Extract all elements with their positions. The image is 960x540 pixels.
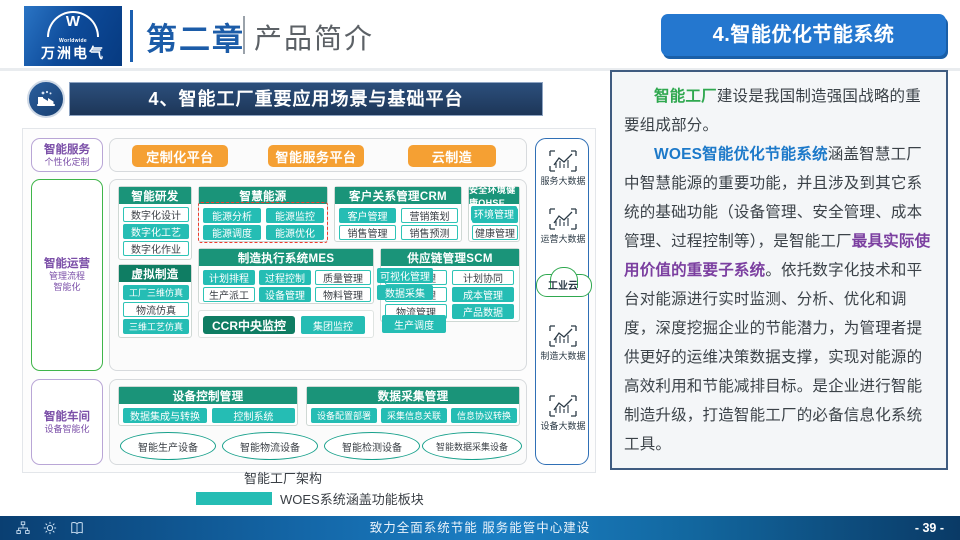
platform-smart-service-label: 智能服务平台	[275, 147, 356, 166]
section-title-plate: 4、智能工厂重要应用场景与基础平台	[69, 82, 543, 116]
cell-scm-6[interactable]: 产品数据	[452, 304, 514, 319]
group-rd-header: 智能研发	[119, 187, 191, 204]
group-crm-title: 客户关系管理CRM	[349, 188, 447, 204]
industrial-cloud[interactable]: 工业云	[536, 267, 590, 297]
group-mes: 制造执行系统MES 计划排程 过程控制 质量管理 生产派工 设备管理 物料管理	[198, 248, 374, 304]
cell-mes-visual[interactable]: 可视化管理	[377, 268, 433, 283]
chart-icon	[548, 394, 578, 418]
emphasis-smart-factory: 智能工厂	[654, 88, 717, 105]
group-rd: 智能研发 数字化设计 数字化工艺 数字化作业	[118, 186, 192, 260]
big-data-service[interactable]: 服务大数据	[538, 149, 588, 187]
group-devctl-title: 设备控制管理	[173, 388, 244, 404]
cell-vm-3[interactable]: 三维工艺仿真	[123, 319, 189, 334]
lane3-label-line2: 设备智能化	[44, 424, 89, 435]
cell-dataacq-2[interactable]: 采集信息关联	[381, 408, 447, 423]
cell-mes-7-label: 物料管理	[323, 287, 363, 302]
chapter-title: 第二章	[146, 14, 245, 59]
cell-energy-3[interactable]: 能源调度	[203, 225, 261, 240]
topic-badge: 4.智能优化节能系统	[661, 14, 946, 56]
cell-mes-2[interactable]: 过程控制	[259, 270, 311, 285]
cell-scm-4[interactable]: 成本管理	[452, 287, 514, 302]
group-mes-header: 制造执行系统MES	[199, 249, 373, 266]
group-energy-title: 智慧能源	[239, 188, 286, 204]
cell-vm-3-label: 三维工艺仿真	[129, 320, 183, 333]
cell-devctl-1-label: 数据集成与转换	[130, 408, 200, 423]
platform-smart-service[interactable]: 智能服务平台	[268, 145, 364, 167]
legend-swatch	[196, 492, 272, 505]
industrial-cloud-label: 工业云	[548, 277, 578, 292]
platform-cloud-label: 云制造	[432, 147, 473, 166]
logo-mark-letter: W	[47, 14, 99, 29]
group-vm-header: 虚拟制造	[119, 265, 191, 282]
big-data-equipment[interactable]: 设备大数据	[538, 394, 588, 432]
diagram-caption: 智能工厂架构	[244, 468, 322, 487]
group-smart-energy: 智慧能源 能源分析 能源监控 能源调度 能源优化	[198, 186, 328, 242]
ccr-title: CCR中央监控	[212, 317, 286, 334]
device-ellipse-2[interactable]: 智能物流设备	[222, 432, 318, 460]
big-data-service-label: 服务大数据	[540, 174, 585, 187]
device-ellipse-1[interactable]: 智能生产设备	[120, 432, 216, 460]
device-ellipse-2-label: 智能物流设备	[240, 439, 300, 454]
cell-crm-1-label: 客户管理	[348, 208, 388, 223]
device-ellipse-3-label: 智能检测设备	[342, 439, 402, 454]
device-ellipse-4-label: 智能数据采集设备	[436, 440, 508, 453]
group-device-control: 设备控制管理 数据集成与转换 控制系统	[118, 386, 298, 426]
chart-icon	[548, 324, 578, 348]
cell-mes-visual-label: 可视化管理	[380, 268, 430, 283]
cell-energy-4[interactable]: 能源优化	[266, 225, 324, 240]
cell-mes-7[interactable]: 物料管理	[315, 287, 371, 302]
group-vm-title: 虚拟制造	[131, 266, 178, 282]
footer-slogan: 致力全面系统节能 服务能管中心建设	[0, 516, 960, 540]
cell-mes-dataacq[interactable]: 数据采集	[377, 285, 433, 300]
big-data-manufacturing-label: 制造大数据	[540, 349, 585, 362]
cell-devctl-2[interactable]: 控制系统	[212, 408, 295, 423]
logo-worldwide-text: Worldwide	[59, 38, 87, 44]
cell-devctl-1[interactable]: 数据集成与转换	[123, 408, 207, 423]
cell-rd-3[interactable]: 数字化作业	[123, 241, 189, 256]
cell-energy-3-label: 能源调度	[212, 225, 252, 240]
cell-mes-2-label: 过程控制	[265, 270, 305, 285]
cell-mes-3[interactable]: 质量管理	[315, 270, 371, 285]
big-data-operation[interactable]: 运营大数据	[538, 207, 588, 245]
cloud-icon: 工业云	[536, 267, 590, 297]
cell-energy-2[interactable]: 能源监控	[266, 208, 324, 223]
legend-label: WOES系统涵盖功能板块	[280, 489, 424, 508]
big-data-column: 服务大数据 运营大数据 工业云 制造大数据	[535, 138, 589, 465]
cell-ccr-2[interactable]: 生产调度	[382, 315, 446, 333]
cell-crm-2-label: 营销策划	[410, 208, 450, 223]
cell-vm-2-label: 物流仿真	[136, 302, 176, 317]
page-number: - 39 -	[915, 516, 944, 540]
slide-header: W Worldwide 万洲电气 第二章 产品简介 4.智能优化节能系统	[0, 0, 960, 72]
cell-qhse-3[interactable]: 健康管理	[472, 225, 518, 240]
operation-layer-container: 智能研发 数字化设计 数字化工艺 数字化作业 虚拟制造 工厂三维仿真 物流仿真 …	[109, 179, 527, 371]
ccr-header[interactable]: CCR中央监控	[203, 316, 295, 334]
smart-factory-architecture-diagram: 智能服务 个性化定制 定制化平台 智能服务平台 云制造 智能运营 管理流程 智能…	[22, 128, 596, 473]
topic-badge-label: 4.智能优化节能系统	[661, 14, 946, 56]
big-data-operation-label: 运营大数据	[540, 232, 585, 245]
device-ellipse-1-label: 智能生产设备	[138, 439, 198, 454]
group-scm-header: 供应链管理SCM	[381, 249, 519, 266]
big-data-manufacturing[interactable]: 制造大数据	[538, 324, 588, 362]
cell-vm-1-label: 工厂三维仿真	[129, 286, 183, 299]
cell-dataacq-1[interactable]: 设备配置部署	[311, 408, 377, 423]
lane2-label-line3: 智能化	[53, 282, 80, 293]
cell-dataacq-2-label: 采集信息关联	[387, 409, 441, 422]
chapter-subtitle: 产品简介	[254, 17, 374, 57]
group-ccr: CCR中央监控 集团监控	[198, 310, 374, 338]
cell-energy-1-label: 能源分析	[212, 208, 252, 223]
group-crm-header: 客户关系管理CRM	[335, 187, 461, 204]
description-paragraph-2: WOES智能优化节能系统涵盖智慧工厂中智慧能源的重要功能，并且涉及到其它系统的基…	[624, 140, 934, 459]
chapter-separator	[243, 16, 245, 54]
lane2-label-line2: 管理流程	[49, 271, 85, 282]
logo-company-name: 万洲电气	[41, 45, 105, 62]
header-divider	[130, 10, 133, 62]
cell-crm-2[interactable]: 营销策划	[401, 208, 458, 223]
cell-rd-3-label: 数字化作业	[131, 241, 181, 256]
cell-rd-1[interactable]: 数字化设计	[123, 207, 189, 222]
device-ellipse-4[interactable]: 智能数据采集设备	[422, 432, 522, 460]
cell-mes-dataacq-label: 数据采集	[385, 285, 425, 300]
cell-scm-6-label: 产品数据	[463, 304, 503, 319]
group-dataacq-title: 数据采集管理	[378, 388, 449, 404]
cell-dataacq-3-label: 信息协议转换	[457, 409, 511, 422]
cell-mes-3-label: 质量管理	[323, 270, 363, 285]
group-qhse-header: 安全环境健康QHSE	[469, 187, 519, 204]
slide-footer: 致力全面系统节能 服务能管中心建设 - 39 -	[0, 516, 960, 540]
cell-mes-6[interactable]: 设备管理	[259, 287, 311, 302]
description-paragraph-1: 智能工厂建设是我国制造强国战略的重要组成部分。	[624, 82, 934, 140]
lane-label-line2: 个性化定制	[44, 157, 89, 168]
emphasis-woes: WOES智能优化节能系统	[654, 146, 828, 163]
cell-rd-2[interactable]: 数字化工艺	[123, 224, 189, 239]
group-rd-title: 智能研发	[131, 188, 178, 204]
group-energy-header: 智慧能源	[199, 187, 327, 204]
cell-mes-1-label: 计划排程	[209, 270, 249, 285]
cell-energy-4-label: 能源优化	[275, 225, 315, 240]
platform-customization-label: 定制化平台	[146, 147, 214, 166]
cell-crm-4[interactable]: 销售预测	[401, 225, 458, 240]
big-data-equipment-label: 设备大数据	[540, 419, 585, 432]
lane-label-line1: 智能服务	[44, 143, 90, 157]
section-title-text: 4、智能工厂重要应用场景与基础平台	[70, 83, 542, 115]
device-ellipse-3[interactable]: 智能检测设备	[324, 432, 420, 460]
platform-cloud-manufacturing[interactable]: 云制造	[408, 145, 496, 167]
group-qhse-title: 安全环境健康QHSE	[469, 183, 519, 209]
cell-scm-2[interactable]: 计划协同	[452, 270, 514, 285]
cell-energy-1[interactable]: 能源分析	[203, 208, 261, 223]
cell-devctl-2-label: 控制系统	[234, 408, 274, 423]
chart-icon	[548, 207, 578, 231]
group-devctl-header: 设备控制管理	[119, 387, 297, 404]
cell-ccr-1-label: 集团监控	[313, 318, 353, 333]
description-panel: 智能工厂建设是我国制造强国战略的重要组成部分。 WOES智能优化节能系统涵盖智慧…	[610, 70, 948, 470]
cell-crm-1[interactable]: 客户管理	[339, 208, 396, 223]
cell-mes-5-label: 生产派工	[209, 287, 249, 302]
group-scm-title: 供应链管理SCM	[407, 250, 492, 266]
cell-rd-1-label: 数字化设计	[131, 207, 181, 222]
factory-icon	[27, 80, 65, 118]
cell-ccr-2-label: 生产调度	[394, 317, 434, 332]
paragraph-2-part-b: 。依托数字化技术和平台对能源进行实时监测、分析、优化和调度，深度挖掘企业的节能潜…	[624, 262, 922, 453]
cell-scm-2-label: 计划协同	[463, 270, 503, 285]
workshop-layer-container: 设备控制管理 数据集成与转换 控制系统 数据采集管理 设备配置部署 采集信息关联…	[109, 379, 527, 465]
lane2-label-line1: 智能运营	[44, 257, 90, 271]
cell-mes-1[interactable]: 计划排程	[203, 270, 255, 285]
group-dataacq-header: 数据采集管理	[307, 387, 519, 404]
lane-label-smart-operation: 智能运营 管理流程 智能化	[31, 179, 103, 371]
cell-dataacq-1-label: 设备配置部署	[317, 409, 371, 422]
lane3-label-line1: 智能车间	[44, 410, 90, 424]
cell-qhse-env[interactable]: 环境管理	[471, 206, 517, 221]
lane-label-smart-service: 智能服务 个性化定制	[31, 138, 103, 172]
cell-ccr-1[interactable]: 集团监控	[301, 316, 365, 334]
cell-energy-2-label: 能源监控	[275, 208, 315, 223]
chart-icon	[548, 149, 578, 173]
cell-qhse-3-label: 健康管理	[475, 225, 515, 240]
section-title-bar: 4、智能工厂重要应用场景与基础平台	[27, 80, 543, 118]
cell-qhse-env-label: 环境管理	[474, 206, 514, 221]
cell-crm-3-label: 销售管理	[348, 225, 388, 240]
group-virtual-manufacturing: 虚拟制造 工厂三维仿真 物流仿真 三维工艺仿真	[118, 264, 192, 338]
cell-crm-3[interactable]: 销售管理	[339, 225, 396, 240]
group-crm: 客户关系管理CRM 客户管理 营销策划 销售管理 销售预测	[334, 186, 462, 242]
logo-arc-icon: W	[47, 11, 99, 37]
platform-row: 定制化平台 智能服务平台 云制造	[109, 138, 527, 172]
cell-vm-2[interactable]: 物流仿真	[123, 302, 189, 317]
cell-scm-4-label: 成本管理	[463, 287, 503, 302]
group-mes-title: 制造执行系统MES	[238, 250, 335, 266]
cell-mes-6-label: 设备管理	[265, 287, 305, 302]
cell-crm-4-label: 销售预测	[410, 225, 450, 240]
cell-mes-5[interactable]: 生产派工	[203, 287, 255, 302]
group-data-acquisition: 数据采集管理 设备配置部署 采集信息关联 信息协议转换	[306, 386, 520, 426]
company-logo: W Worldwide 万洲电气	[24, 6, 122, 66]
lane-label-smart-workshop: 智能车间 设备智能化	[31, 379, 103, 465]
cell-dataacq-3[interactable]: 信息协议转换	[451, 408, 517, 423]
cell-rd-2-label: 数字化工艺	[131, 224, 181, 239]
platform-customization[interactable]: 定制化平台	[132, 145, 228, 167]
cell-vm-1[interactable]: 工厂三维仿真	[123, 285, 189, 300]
